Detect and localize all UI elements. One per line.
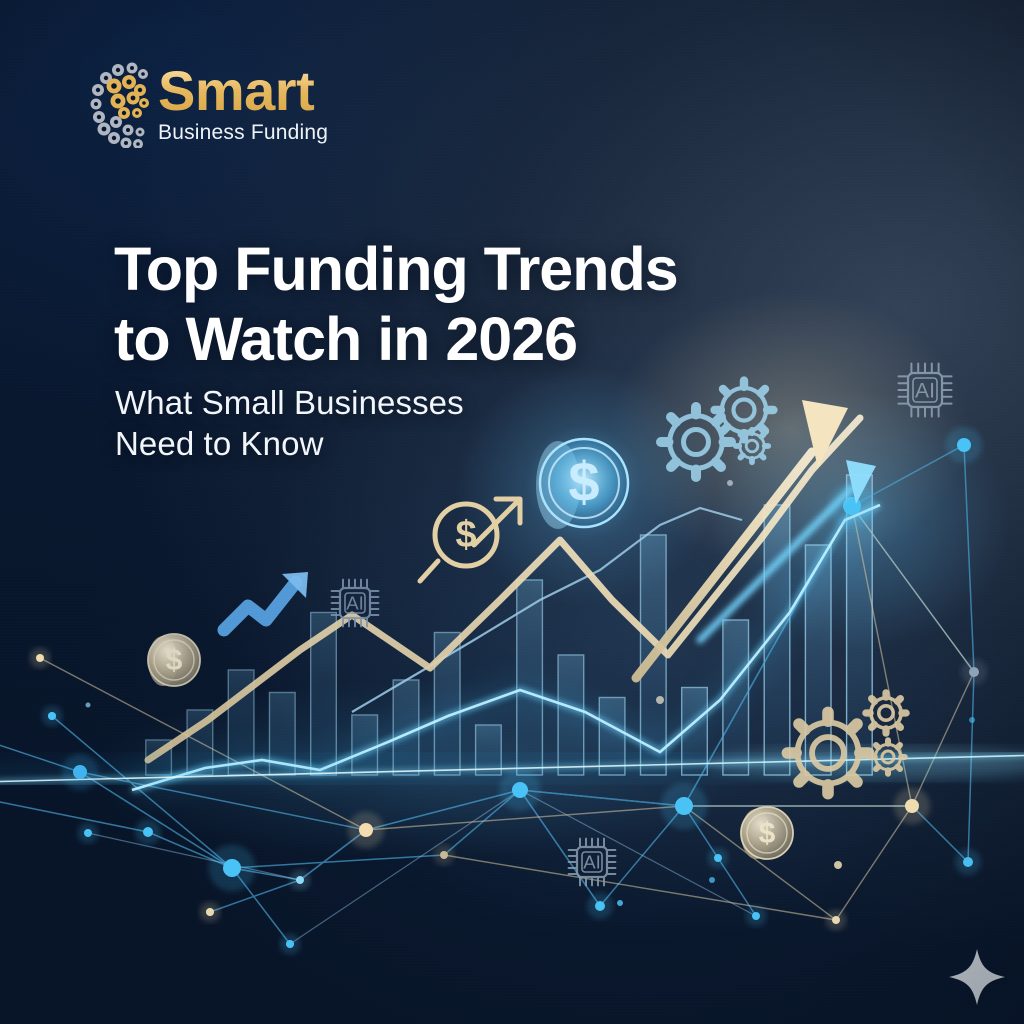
- ai-chip-label: AI: [346, 593, 364, 614]
- network-node: [84, 829, 92, 837]
- network-node: [843, 497, 861, 515]
- coin-dollar-icon: $: [741, 807, 793, 859]
- brand-name: Smart: [158, 64, 328, 118]
- network-node: [957, 438, 971, 452]
- ai-chip-label: AI: [583, 852, 601, 873]
- network-node: [223, 859, 241, 877]
- svg-text:$: $: [759, 817, 776, 850]
- ai-chip-label: AI: [915, 379, 935, 402]
- network-node: [359, 823, 373, 837]
- trend-arrow-icon: [224, 572, 308, 630]
- network-node: [714, 854, 722, 862]
- poster-canvas: $ $ $ $: [0, 0, 1024, 1024]
- network-node: [296, 876, 304, 884]
- network-node: [440, 851, 448, 859]
- page-title: Top Funding Trends to Watch in 2026: [114, 234, 774, 374]
- network-node: [675, 797, 693, 815]
- network-node: [963, 857, 973, 867]
- network-node: [905, 799, 919, 813]
- brand-tagline: Business Funding: [158, 120, 328, 146]
- gear-brain-head-icon: [88, 60, 154, 148]
- svg-text:$: $: [166, 644, 183, 677]
- brand-logo[interactable]: Smart Business Funding: [88, 60, 328, 148]
- sparkle-icon: [949, 949, 1005, 1005]
- bar: [517, 580, 543, 775]
- network-node: [143, 827, 153, 837]
- background-artwork: $ $ $ $: [0, 0, 1024, 1024]
- network-node: [512, 782, 528, 798]
- ai-chip-icon: AI: [332, 580, 379, 627]
- network-node: [752, 912, 760, 920]
- page-subtitle: What Small Businesses Need to Know: [115, 382, 675, 464]
- svg-text:$: $: [455, 514, 476, 556]
- network-node: [73, 765, 87, 779]
- network-node: [969, 667, 979, 677]
- network-node: [595, 901, 605, 911]
- coin-dollar-icon: $: [148, 634, 200, 686]
- network-node: [832, 916, 840, 924]
